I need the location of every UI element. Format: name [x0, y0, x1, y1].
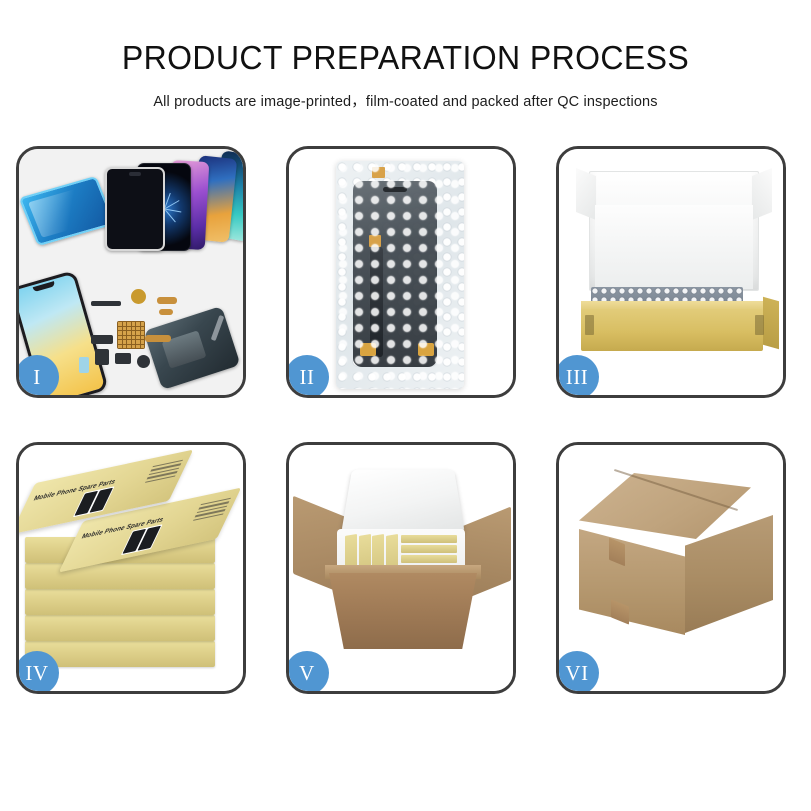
carton-body — [329, 573, 477, 649]
step-badge-2: II — [289, 355, 329, 395]
box-notch-left — [585, 315, 594, 335]
step-6-image: VI — [559, 445, 783, 691]
orange-tape-mid — [369, 235, 381, 247]
stacked-box-4 — [25, 615, 215, 641]
camera-module-part — [115, 353, 131, 364]
screen-assembly — [353, 181, 437, 367]
gold-connector-left — [360, 343, 376, 356]
page-title: PRODUCT PREPARATION PROCESS — [12, 40, 799, 76]
process-step-1[interactable]: I — [16, 146, 246, 398]
page-header: PRODUCT PREPARATION PROCESS All products… — [0, 0, 811, 111]
flex-cable-part-3 — [145, 335, 171, 342]
connector-part-2 — [95, 349, 109, 365]
flex-cable-part-2 — [159, 309, 173, 315]
orange-tape-top — [372, 167, 385, 178]
assembly-flex-cable — [370, 247, 383, 357]
small-sensor-part — [79, 357, 89, 373]
step-4-image: Mobile Phone Spare Parts Mobile Phone Sp… — [19, 445, 243, 691]
inner-box-scene — [559, 149, 783, 395]
step-5-image: V — [289, 445, 513, 691]
flex-cable-part-1 — [157, 297, 177, 304]
step-3-image: III — [559, 149, 783, 395]
process-step-grid: I II — [16, 146, 795, 694]
styrofoam-lid — [341, 470, 465, 535]
chip-array-part — [117, 321, 145, 349]
speaker-mesh-part — [91, 301, 121, 306]
sealed-carton-scene — [559, 445, 783, 691]
box-notch-right — [755, 315, 764, 335]
stacked-box-2 — [25, 563, 215, 589]
connector-part-1 — [91, 335, 113, 344]
box-spec-lines-2 — [193, 498, 231, 521]
process-step-6[interactable]: VI — [556, 442, 786, 694]
spare-parts-scene — [19, 149, 243, 395]
step-2-image: II — [289, 149, 513, 395]
step-1-image: I — [19, 149, 243, 395]
white-foam-sheet — [595, 205, 753, 289]
carton-front-face — [579, 529, 685, 635]
box-spec-lines-1 — [145, 460, 183, 483]
step-badge-1: I — [19, 355, 59, 395]
step-badge-3: III — [559, 355, 599, 395]
phone-back-housing — [143, 306, 240, 390]
page-subtitle: All products are image-printed，film-coat… — [0, 90, 811, 111]
process-step-2[interactable]: II — [286, 146, 516, 398]
yellow-box-body — [581, 309, 763, 351]
vibrator-part — [137, 355, 150, 368]
blue-adhesive-screen — [19, 176, 115, 246]
process-step-4[interactable]: Mobile Phone Spare Parts Mobile Phone Sp… — [16, 442, 246, 694]
home-button-part — [131, 289, 146, 304]
step-badge-6: VI — [559, 651, 599, 691]
bubble-wrap-scene — [289, 149, 513, 395]
process-step-3[interactable]: III — [556, 146, 786, 398]
yellow-box-side — [763, 297, 779, 350]
stacked-box-3 — [25, 589, 215, 615]
gold-connector-right — [418, 343, 434, 356]
process-step-5[interactable]: V — [286, 442, 516, 694]
step-badge-4: IV — [19, 651, 59, 691]
carton-loading-scene — [289, 445, 513, 691]
black-glass-panel — [105, 167, 165, 251]
bubble-wrap-bag — [336, 161, 464, 389]
box-stack-scene: Mobile Phone Spare Parts Mobile Phone Sp… — [19, 445, 243, 691]
step-badge-5: V — [289, 651, 329, 691]
